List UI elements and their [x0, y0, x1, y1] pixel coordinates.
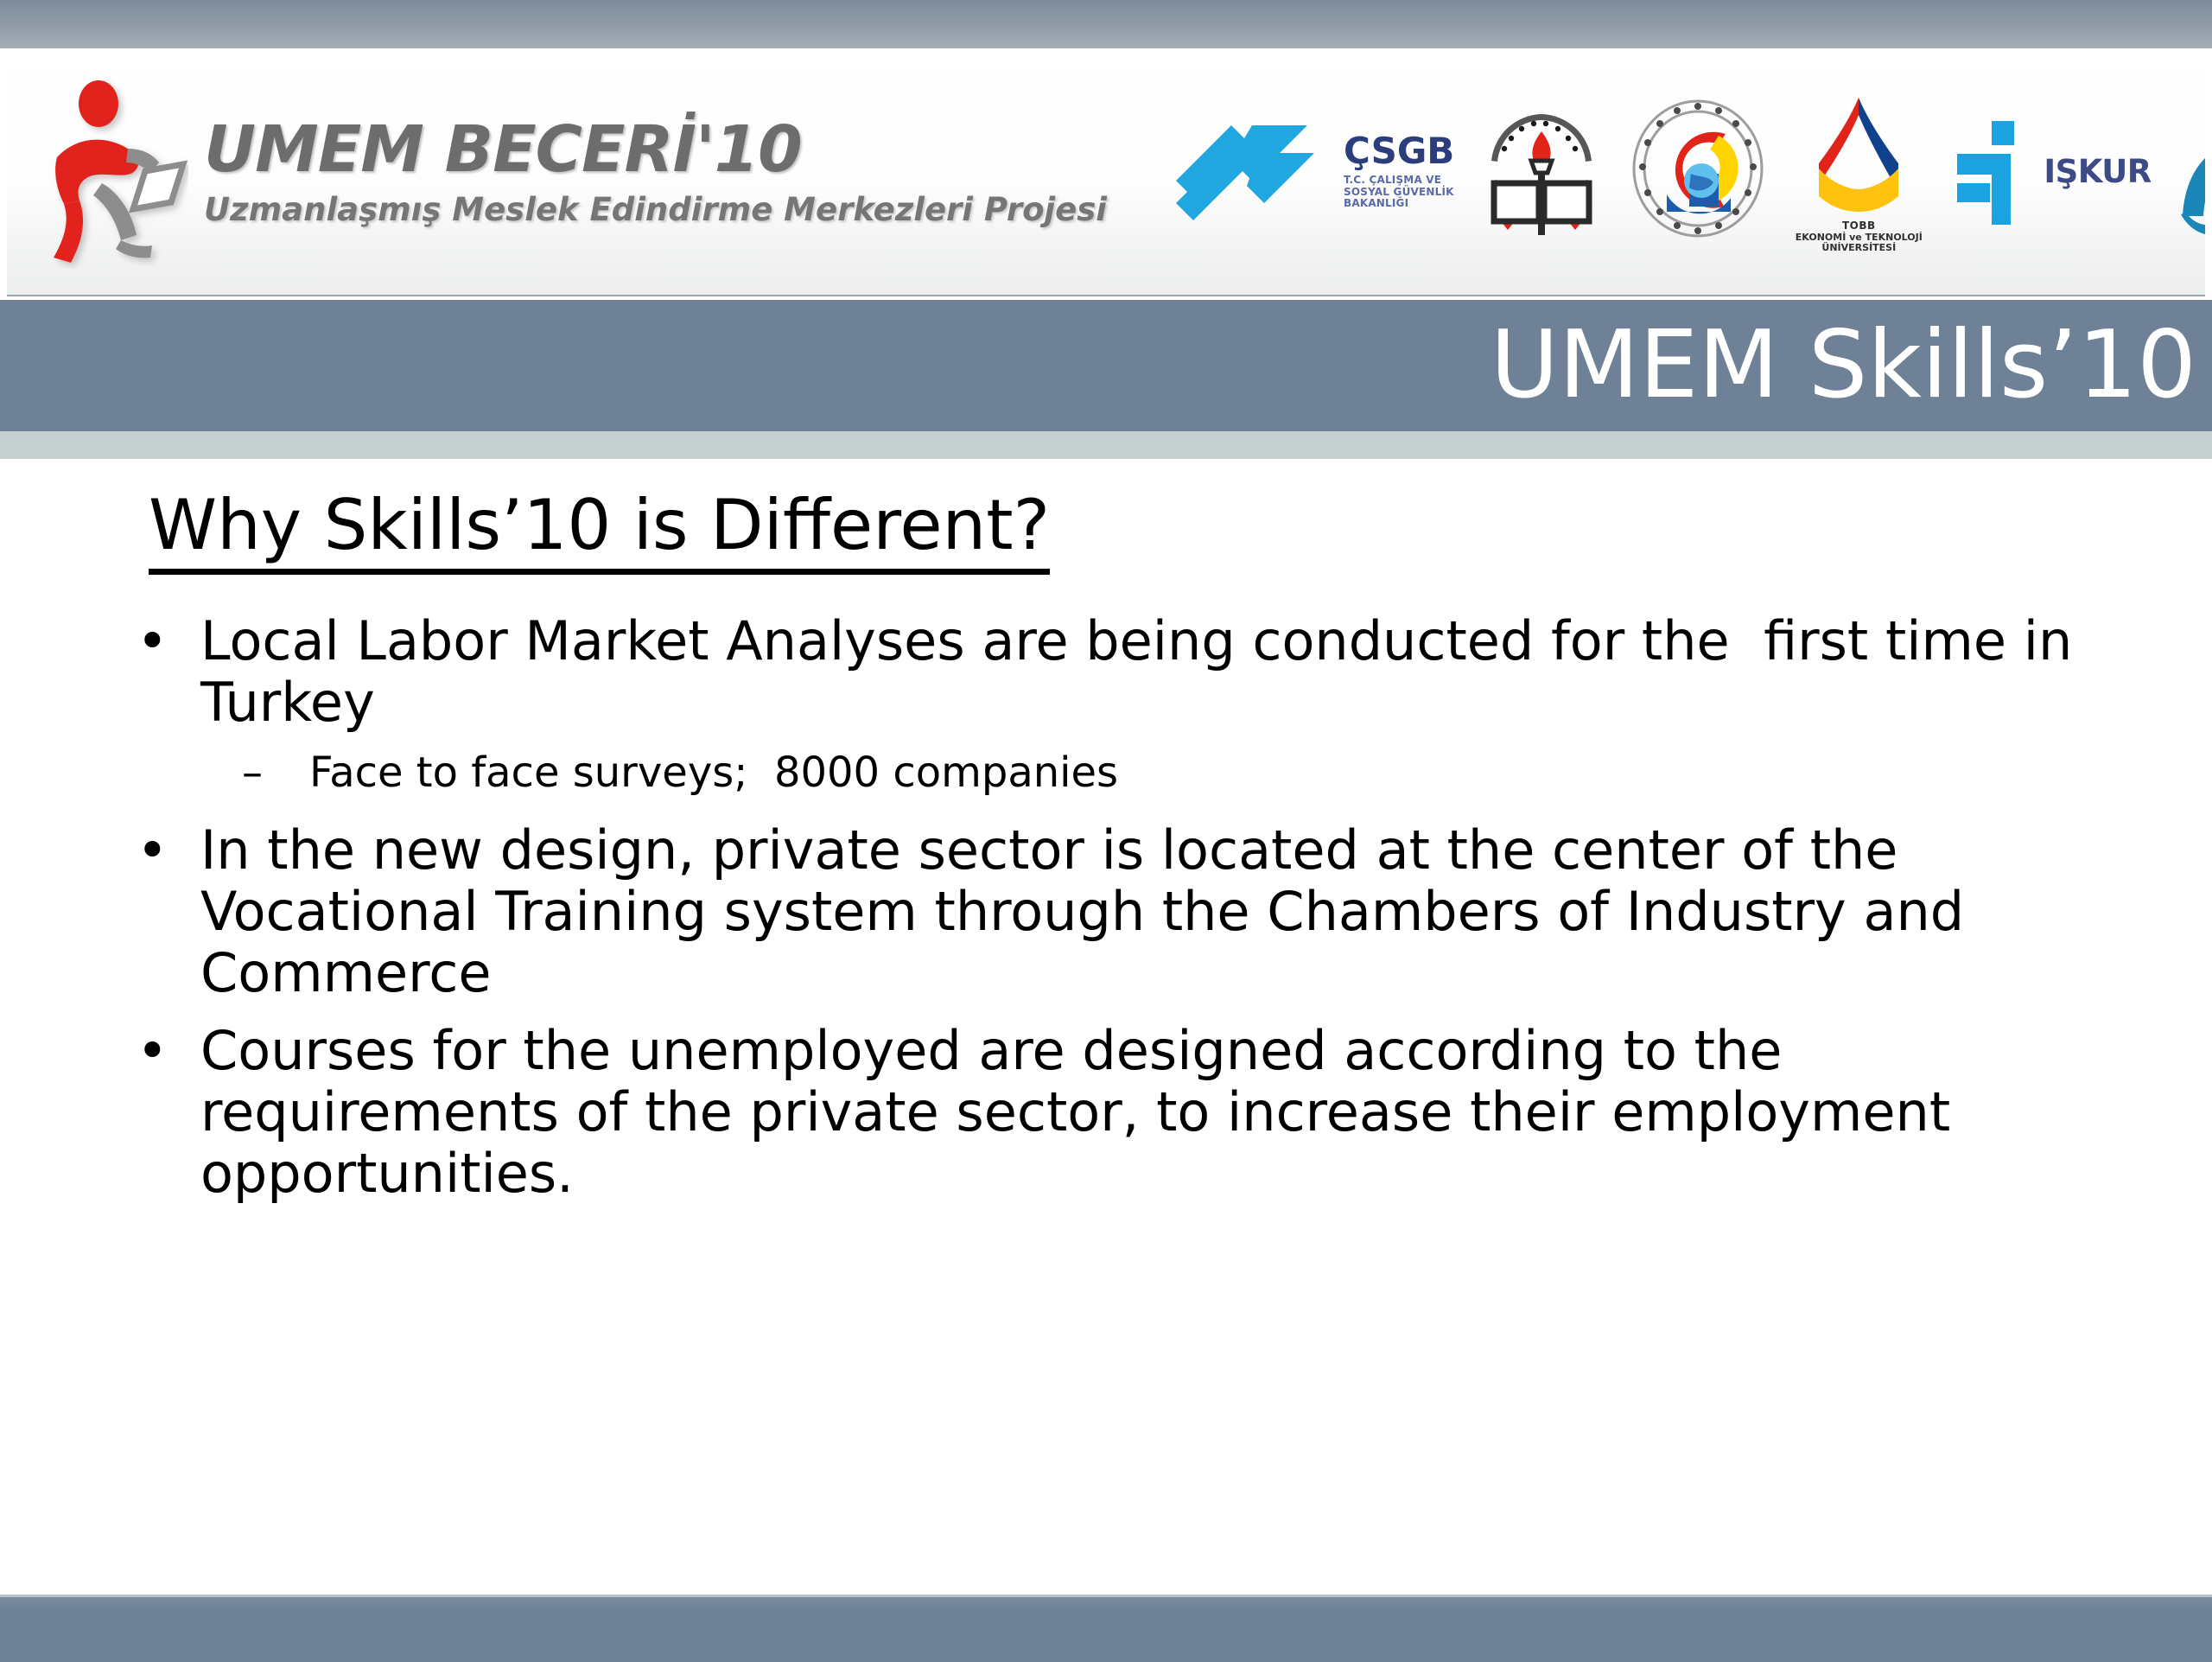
logo-csgb: ÇSGB T.C. ÇALIŞMA VE SOSYAL GÜVENLİK BAK… [1169, 113, 1454, 230]
tobb-etu-triangle-icon [1789, 89, 1928, 219]
brand-wordmark: UMEM BECERİ'10 Uzmanlaşmış Meslek Edindi… [204, 118, 1107, 226]
csgb-double-chevron-icon [1169, 113, 1333, 230]
partner-logo-strip: ÇSGB T.C. ÇALIŞMA VE SOSYAL GÜVENLİK BAK… [1169, 89, 2205, 254]
logo-iskur: IŞKUR [1950, 109, 2151, 234]
sgk-two-figures-laurel-icon [2174, 100, 2205, 243]
logo-tobb [1629, 98, 1767, 245]
logo-meb [1477, 100, 1606, 243]
csgb-caption: T.C. ÇALIŞMA VE SOSYAL GÜVENLİK BAKANLIĞ… [1344, 175, 1454, 210]
bullet-item: • Courses for the unemployed are designe… [121, 1020, 2134, 1205]
brand-title: UMEM BECERİ'10 [204, 118, 1107, 181]
brand-subtitle: Uzmanlaşmış Meslek Edindirme Merkezleri … [204, 194, 1107, 226]
tobb-etu-caption: TOBB EKONOMİ ve TEKNOLOJİ ÜNİVERSİTESİ [1796, 220, 1923, 254]
bullet-list: • Local Labor Market Analyses are being … [121, 610, 2134, 1220]
presentation-slide: UMEM BECERİ'10 Uzmanlaşmış Meslek Edindi… [0, 0, 2212, 1659]
bullet-text: In the new design, private sector is loc… [200, 819, 2075, 1004]
logo-sgk [2174, 100, 2205, 243]
header-banner: UMEM BECERİ'10 Uzmanlaşmış Meslek Edindi… [7, 48, 2205, 296]
iskur-name: IŞKUR [2044, 153, 2151, 190]
meb-torch-and-book-icon [1477, 100, 1606, 243]
footer-bar [0, 1595, 2212, 1662]
bullet-marker: • [121, 819, 200, 881]
slide-title: UMEM Skills’10 [1491, 319, 2212, 412]
sub-bullet-item: – Face to face surveys; 8000 companies [242, 749, 2134, 797]
iskur-figure-icon [1950, 109, 2037, 234]
running-person-with-document-icon [41, 74, 188, 269]
bullet-text: Courses for the unemployed are designed … [200, 1020, 2075, 1205]
csgb-name: ÇSGB [1344, 133, 1454, 169]
slide-title-bar: UMEM Skills’10 [0, 300, 2212, 431]
project-brand: UMEM BECERİ'10 Uzmanlaşmış Meslek Edindi… [41, 74, 1107, 269]
sub-bullet-text: Face to face surveys; 8000 companies [309, 749, 1118, 797]
sub-bullet-marker: – [242, 749, 309, 797]
logo-tobb-etu: TOBB EKONOMİ ve TEKNOLOJİ ÜNİVERSİTESİ [1789, 89, 1928, 254]
bullet-item: • In the new design, private sector is l… [121, 819, 2134, 1004]
slide-body: Why Skills’10 is Different? • Local Labo… [0, 459, 2212, 1595]
bullet-marker: • [121, 610, 200, 672]
bullet-text: Local Labor Market Analyses are being co… [200, 610, 2075, 734]
top-decorative-strip [0, 0, 2212, 48]
tobb-circular-emblem-icon [1629, 98, 1767, 245]
bullet-marker: • [121, 1020, 200, 1081]
title-under-strip [0, 431, 2212, 459]
bullet-item: • Local Labor Market Analyses are being … [121, 610, 2134, 734]
content-heading-text: Why Skills’10 is Different? [149, 489, 1050, 575]
content-heading: Why Skills’10 is Different? [149, 489, 1050, 575]
